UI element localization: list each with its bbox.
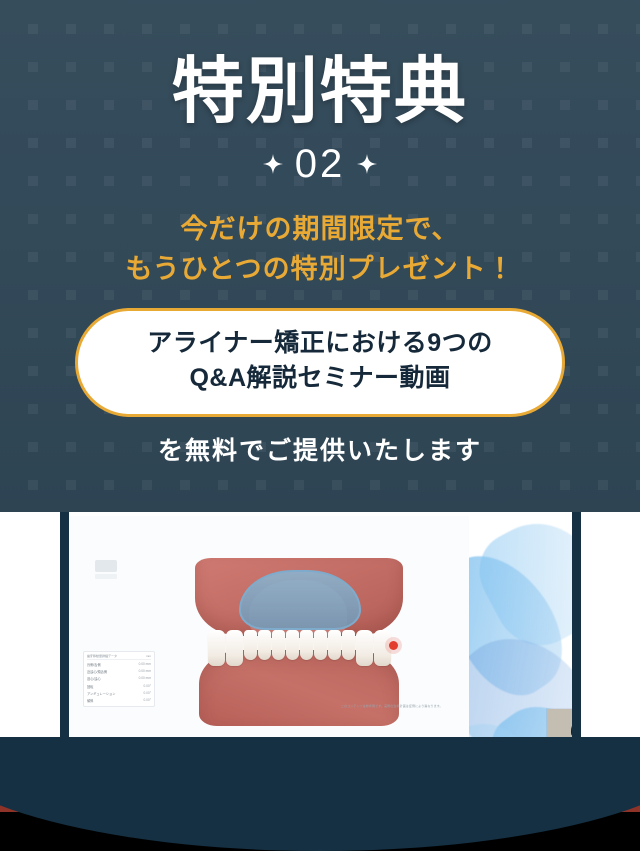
dental-3d-model [179,558,419,736]
measurement-label: 唇側/舌側 [87,662,101,667]
tooth [244,630,257,660]
hero-closing-text: を無料でご提供いたします [0,435,640,468]
measurement-row: 傾斜 0.00° [87,697,151,704]
benefit-number-row: 02 [0,144,640,184]
tooth [208,630,225,666]
app-caption: このコンテンツは参考例です。実際の治療計画は症例により異なります。 [341,704,461,709]
offer-pill-line-2: Q&A解説セミナー動画 [88,361,552,397]
measurement-header-unit: mm [146,654,151,658]
offer-pill: アライナー矯正における9つの Q&A解説セミナー動画 [75,308,565,417]
measurement-row: 唇側/舌側 0.00 mm [87,661,151,668]
measurement-panel-header: 歯牙移動量詳細データ mm [87,654,151,660]
tooth [328,630,341,660]
measurement-value: 0.00 mm [139,662,151,667]
hero-section: 特別特典 02 今だけの期間限定で、 もうひとつの特別プレゼント！ [0,0,640,512]
hero-subtitle-line-2: もうひとつの特別プレゼント！ [125,254,514,284]
tooth [226,630,243,666]
hero-content: 特別特典 02 今だけの期間限定で、 もうひとつの特別プレゼント！ [0,0,640,467]
tooth [286,630,299,660]
teeth-row [197,630,401,672]
app-logo-icon [95,560,117,572]
measurement-label: 傾斜 [87,698,93,703]
app-3d-canvas: このコンテンツは参考例です。実際の治療計画は症例により異なります。 歯牙移動量詳… [69,516,470,774]
measurement-label: 迫心/遠心 [87,676,101,681]
measurement-label: 近遠心/頬舌側 [87,669,107,674]
tooth [356,630,373,666]
measurement-value: 0.00° [144,684,151,689]
measurement-label: 回転 [87,684,93,689]
hero-subtitle: 今だけの期間限定で、 もうひとつの特別プレゼント！ [0,210,640,290]
tooth [342,630,355,660]
measurement-row: アンギュレーション 0.00° [87,690,151,697]
sparkle-icon [263,154,283,174]
sparkle-icon [357,154,377,174]
promo-page: 特別特典 02 今だけの期間限定で、 もうひとつの特別プレゼント！ [0,0,640,851]
tooth [300,630,313,660]
measurement-header-label: 歯牙移動量詳細データ [87,654,117,658]
tooth [272,630,285,660]
measurement-row: 迫心/遠心 0.00 mm [87,675,151,682]
aligner-tray [239,570,361,630]
measurement-row: 回転 0.00° [87,683,151,690]
tooth [258,630,271,660]
benefit-number: 02 [295,144,346,184]
measurement-label: アンギュレーション [87,691,115,696]
attachment-marker-icon[interactable] [389,641,398,650]
measurement-value: 0.00° [144,698,151,703]
measurement-row: 近遠心/頬舌側 0.00 mm [87,668,151,675]
page-title: 特別特典 [0,0,640,128]
hero-subtitle-line-1: 今だけの期間限定で、 [181,214,460,244]
tooth [314,630,327,660]
measurement-value: 0.00 mm [139,669,151,674]
measurement-value: 0.00 mm [139,676,151,681]
measurement-value: 0.00° [144,691,151,696]
offer-pill-line-1: アライナー矯正における9つの [88,326,552,362]
tooth [374,630,391,666]
measurement-panel: 歯牙移動量詳細データ mm 唇側/舌側 0.00 mm 近遠心/頬舌側 0.00… [83,651,155,707]
